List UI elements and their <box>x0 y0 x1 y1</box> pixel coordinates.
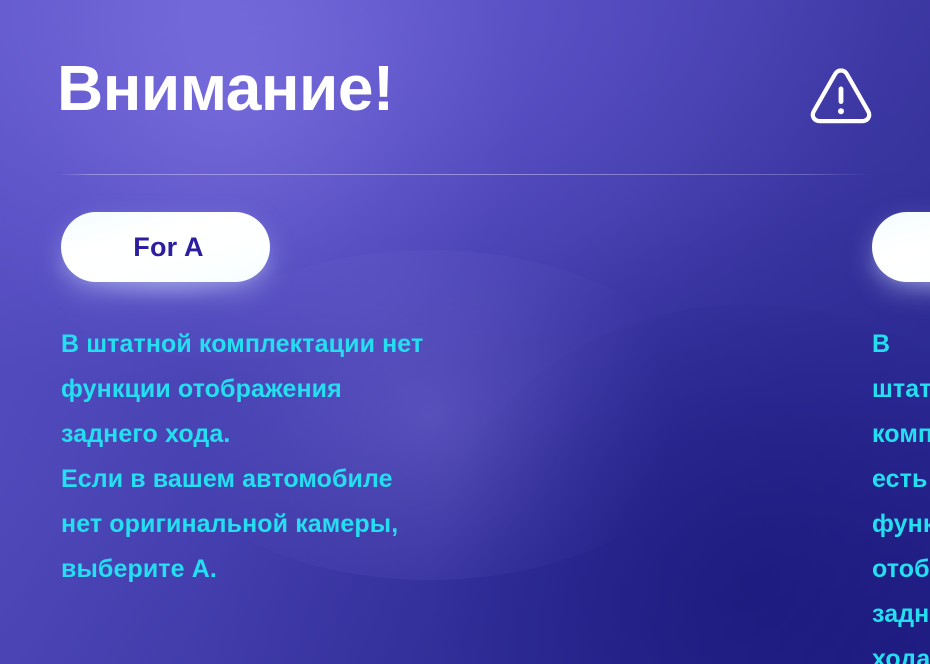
option-a-pill-wrapper: For A <box>61 212 270 282</box>
for-a-button[interactable]: For A <box>61 212 270 282</box>
warning-slide: Внимание! For A В штатной комплектации н… <box>0 0 930 664</box>
option-a-column: For A В штатной комплектации нет функции… <box>0 212 436 664</box>
for-b-button[interactable]: For B <box>872 212 930 282</box>
option-b-column: For B В штатной комплектации есть функци… <box>375 212 872 664</box>
header-divider <box>59 174 872 175</box>
warning-triangle-icon <box>808 64 874 126</box>
page-title: Внимание! <box>57 52 394 124</box>
options-container: For A В штатной комплектации нет функции… <box>0 212 930 664</box>
option-b-pill-wrapper: For B <box>872 212 930 282</box>
